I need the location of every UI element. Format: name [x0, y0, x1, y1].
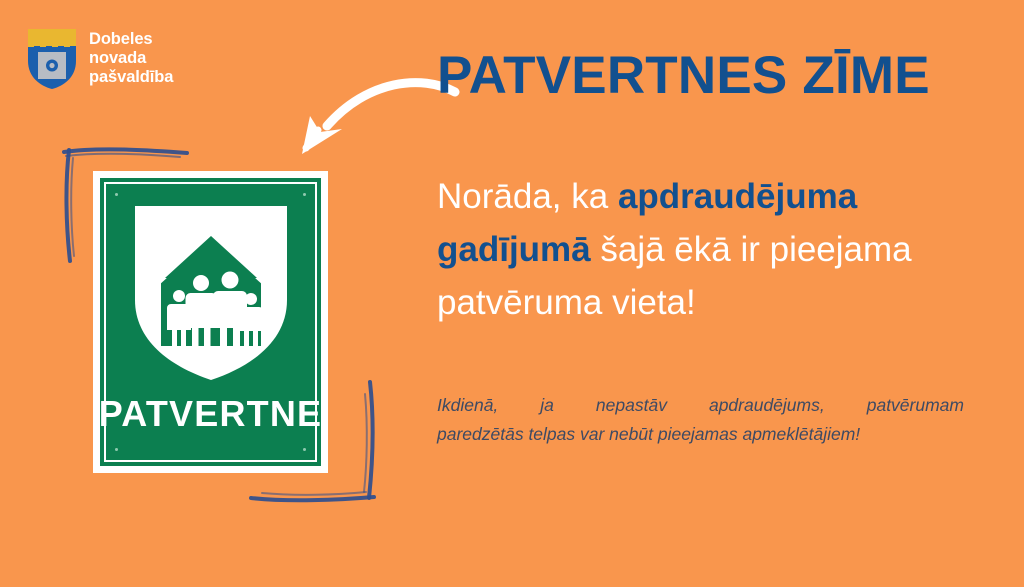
sign-caption: PATVERTNE	[99, 396, 322, 432]
screw-dot	[115, 193, 118, 196]
logo-text: Dobeles novada pašvaldība	[89, 27, 173, 87]
curved-arrow-icon	[272, 44, 462, 159]
page-title: PATVERTNES ZĪME	[437, 48, 989, 104]
screw-dot	[303, 448, 306, 451]
screw-dot	[303, 193, 306, 196]
screw-dot	[115, 448, 118, 451]
coat-of-arms-icon	[26, 27, 78, 91]
shelter-sign-inner-frame: PATVERTNE	[104, 182, 317, 462]
shelter-shield-icon	[131, 204, 291, 382]
lede-paragraph: Norāda, ka apdraudējuma gadījumā šajā ēk…	[437, 104, 982, 330]
lede-part-1: Norāda, ka	[437, 177, 618, 216]
footnote-line-2: paredzētās telpas var nebūt pieejamas ap…	[437, 420, 964, 448]
poster-canvas: Dobeles novada pašvaldība	[0, 0, 1024, 587]
shelter-sign: PATVERTNE	[93, 171, 328, 473]
footnote: Ikdienā, ja nepastāv apdraudējums, patvē…	[437, 329, 964, 448]
footnote-line-1: Ikdienā, ja nepastāv apdraudējums, patvē…	[437, 391, 964, 419]
text-column: PATVERTNES ZĪME Norāda, ka apdraudējuma …	[437, 48, 989, 448]
municipality-logo: Dobeles novada pašvaldība	[26, 27, 173, 91]
